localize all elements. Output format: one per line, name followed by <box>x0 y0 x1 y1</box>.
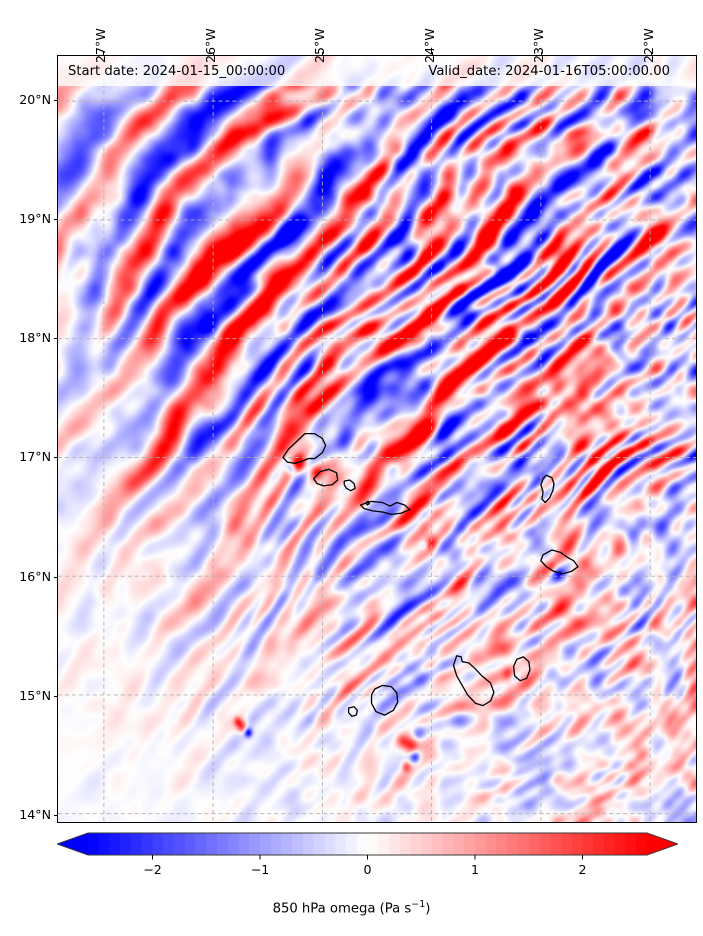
lat-tickmark-5 <box>54 219 58 220</box>
lat-tick-label-1: 15°N <box>2 688 51 703</box>
lat-tick-label-4: 18°N <box>2 330 51 345</box>
colorbar-segment-31 <box>421 833 432 855</box>
colorbar-segment-32 <box>432 833 443 855</box>
colorbar-segment-12 <box>217 833 228 855</box>
lon-tickmark-2 <box>322 52 323 56</box>
coastline-santiago <box>453 656 493 706</box>
lon-tickmark-5 <box>651 52 652 56</box>
colorbar-tick-label-2: 0 <box>348 862 388 877</box>
lon-tickmark-3 <box>432 52 433 56</box>
lon-tick-label-5: 22°W <box>641 28 656 63</box>
colorbar-tick-label-1: −1 <box>240 862 280 877</box>
colorbar-segment-17 <box>271 833 282 855</box>
colorbar-segment-41 <box>529 833 540 855</box>
colorbar-segment-27 <box>378 833 389 855</box>
colorbar-segment-25 <box>357 833 368 855</box>
coastline-s-o-nicolau <box>361 501 410 514</box>
lon-tick-label-1: 26°W <box>203 28 218 63</box>
colorbar-title-tail: ) <box>425 901 430 916</box>
colorbar-segment-8 <box>174 833 185 855</box>
colorbar-segment-44 <box>561 833 572 855</box>
colorbar-segment-23 <box>335 833 346 855</box>
lat-tickmark-1 <box>54 696 58 697</box>
colorbar-segment-36 <box>475 833 486 855</box>
figure-root: Start date: 2024-01-15_00:00:00 Valid_da… <box>0 0 703 936</box>
colorbar-tick-label-3: 1 <box>455 862 495 877</box>
colorbar-segment-11 <box>206 833 217 855</box>
lon-tickmark-0 <box>103 52 104 56</box>
coastline-brava <box>349 707 358 717</box>
colorbar-segment-14 <box>239 833 250 855</box>
colorbar[interactable] <box>57 831 678 865</box>
colorbar-axis-title: 850 hPa omega (Pa s−1) <box>0 899 703 916</box>
colorbar-segment-18 <box>282 833 293 855</box>
colorbar-segment-48 <box>604 833 615 855</box>
colorbar-gradient <box>57 831 678 865</box>
colorbar-segment-28 <box>389 833 400 855</box>
colorbar-segment-30 <box>411 833 422 855</box>
colorbar-segment-10 <box>196 833 207 855</box>
lat-tickmark-6 <box>54 100 58 101</box>
colorbar-segment-47 <box>593 833 604 855</box>
colorbar-segment-51 <box>636 833 647 855</box>
colorbar-segment-37 <box>486 833 497 855</box>
colorbar-title-main: 850 hPa omega (Pa s <box>273 901 412 916</box>
colorbar-segment-22 <box>325 833 336 855</box>
colorbar-segment-6 <box>153 833 164 855</box>
colorbar-segment-42 <box>540 833 551 855</box>
colorbar-segment-26 <box>368 833 379 855</box>
lon-tick-label-3: 24°W <box>422 28 437 63</box>
colorbar-segment-3 <box>120 833 131 855</box>
colorbar-segment-45 <box>572 833 583 855</box>
coastlines-layer <box>58 56 696 822</box>
colorbar-extend-min-arrow <box>57 833 88 855</box>
colorbar-segment-35 <box>464 833 475 855</box>
coastline-santa-luzia <box>344 480 355 491</box>
lat-tickmark-3 <box>54 457 58 458</box>
coastline-sal <box>541 475 554 502</box>
colorbar-segment-39 <box>507 833 518 855</box>
colorbar-segment-40 <box>518 833 529 855</box>
coastline-boa-vista <box>541 550 578 574</box>
lat-tickmark-0 <box>54 815 58 816</box>
lat-tick-label-3: 17°N <box>2 449 51 464</box>
colorbar-segment-15 <box>249 833 260 855</box>
lon-tick-label-2: 25°W <box>312 28 327 63</box>
colorbar-segment-49 <box>615 833 626 855</box>
colorbar-segment-50 <box>626 833 637 855</box>
lat-tick-label-5: 19°N <box>2 211 51 226</box>
coastline-santo-ant-o <box>283 434 326 464</box>
colorbar-tick-label-0: −2 <box>133 862 173 877</box>
colorbar-segment-13 <box>228 833 239 855</box>
lon-tick-label-4: 23°W <box>531 28 546 63</box>
coastline-maio <box>514 657 530 681</box>
lon-tickmark-4 <box>541 52 542 56</box>
map-axes[interactable] <box>57 55 697 823</box>
colorbar-segment-1 <box>99 833 110 855</box>
colorbar-segment-7 <box>163 833 174 855</box>
lon-tickmark-1 <box>213 52 214 56</box>
colorbar-segment-19 <box>292 833 303 855</box>
colorbar-segment-9 <box>185 833 196 855</box>
lat-tickmark-4 <box>54 338 58 339</box>
colorbar-segment-43 <box>550 833 561 855</box>
colorbar-segment-4 <box>131 833 142 855</box>
colorbar-segment-16 <box>260 833 271 855</box>
colorbar-segment-0 <box>88 833 99 855</box>
lat-tick-label-6: 20°N <box>2 92 51 107</box>
lat-tick-label-2: 16°N <box>2 569 51 584</box>
colorbar-tick-label-4: 2 <box>563 862 603 877</box>
colorbar-segment-46 <box>583 833 594 855</box>
colorbar-segment-29 <box>400 833 411 855</box>
colorbar-segment-20 <box>303 833 314 855</box>
colorbar-segment-33 <box>443 833 454 855</box>
colorbar-segment-34 <box>454 833 465 855</box>
lon-tick-label-0: 27°W <box>93 28 108 63</box>
coastline-s-o-vicente <box>314 469 338 486</box>
lat-tickmark-2 <box>54 577 58 578</box>
colorbar-segment-2 <box>110 833 121 855</box>
coastline-fogo <box>372 685 398 715</box>
colorbar-segment-5 <box>142 833 153 855</box>
colorbar-extend-max-arrow <box>647 833 678 855</box>
colorbar-segment-38 <box>497 833 508 855</box>
colorbar-segment-21 <box>314 833 325 855</box>
lat-tick-label-0: 14°N <box>2 807 51 822</box>
colorbar-segment-24 <box>346 833 357 855</box>
colorbar-title-exponent: −1 <box>411 899 425 910</box>
